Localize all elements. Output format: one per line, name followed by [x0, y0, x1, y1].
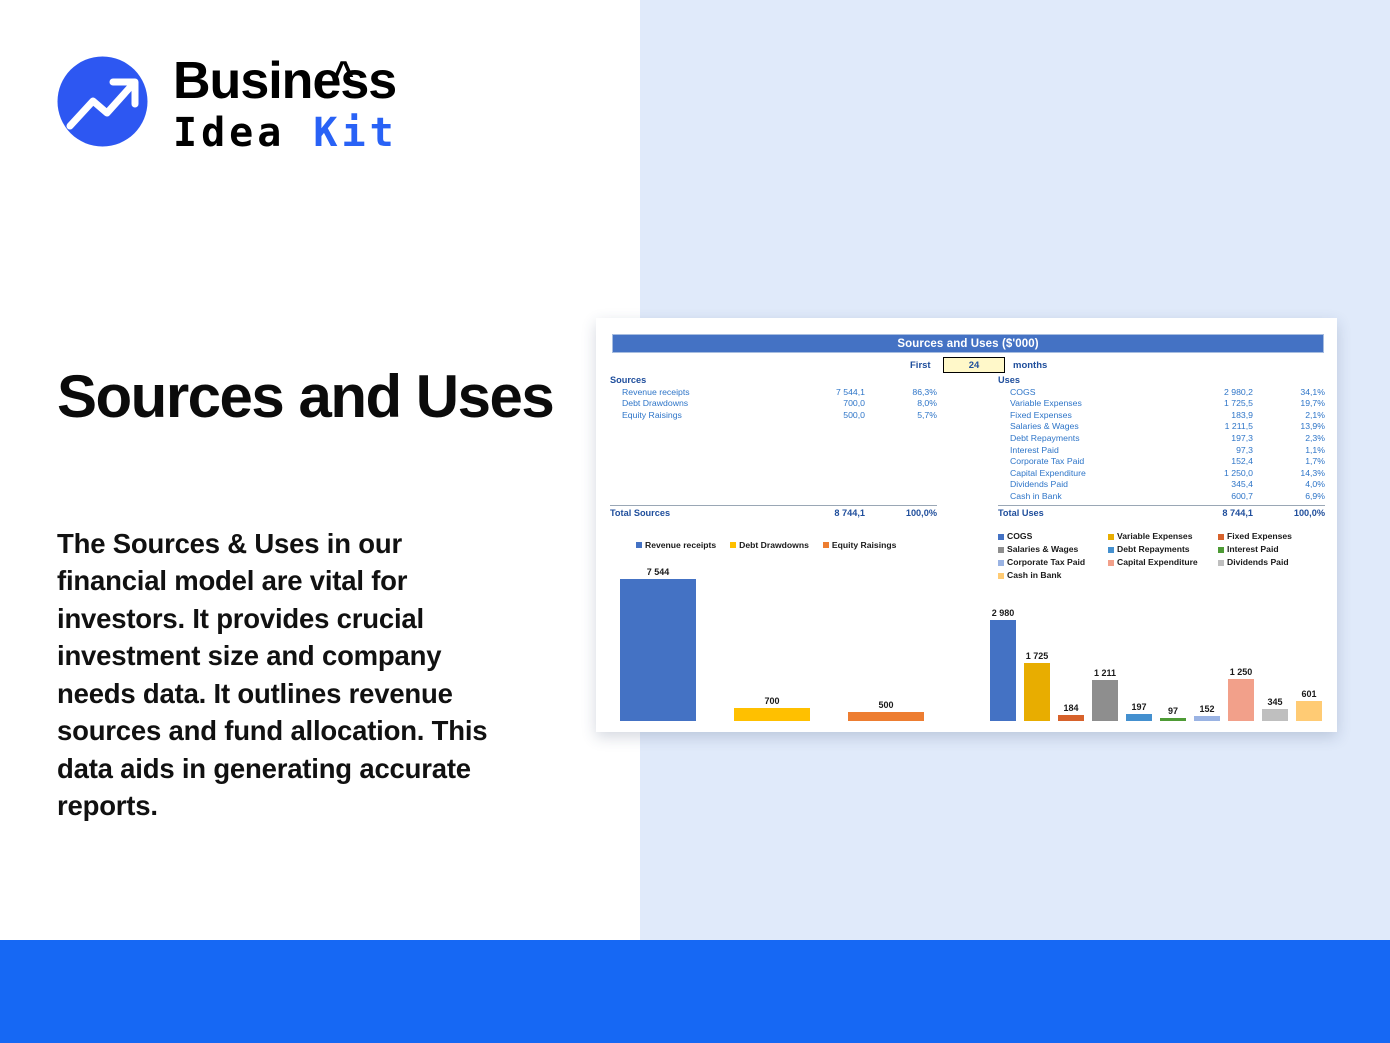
- bar-column: 1 250: [1228, 595, 1254, 721]
- row-label: Variable Expenses: [998, 398, 1173, 410]
- legend-row: Salaries & WagesDebt RepaymentsInterest …: [998, 543, 1328, 556]
- total-value: 8 744,1: [785, 508, 865, 520]
- row-pct: 86,3%: [865, 387, 937, 399]
- uses-bar-chart: 2 9801 7251841 211197971521 250345601: [990, 595, 1330, 721]
- row-pct: 5,7%: [865, 410, 937, 422]
- bar-value-label: 7 544: [647, 567, 670, 577]
- bar-column: 152: [1194, 595, 1220, 721]
- uses-chart-legend: COGSVariable ExpensesFixed ExpensesSalar…: [998, 530, 1328, 582]
- legend-item[interactable]: Interest Paid: [1218, 543, 1326, 556]
- legend-label: Debt Drawdowns: [739, 540, 809, 550]
- bar-column: 500: [848, 556, 924, 721]
- bar-column: 7 544: [620, 556, 696, 721]
- table-row: Debt Drawdowns 700,0 8,0%: [610, 398, 950, 410]
- row-label: Revenue receipts: [610, 387, 785, 399]
- row-pct: 2,3%: [1253, 433, 1325, 445]
- growth-arrow-circle-icon: [55, 54, 150, 149]
- bar-value-label: 345: [1267, 697, 1282, 707]
- row-value: 500,0: [785, 410, 865, 422]
- row-label: Capital Expenditure: [998, 468, 1173, 480]
- total-label: Total Uses: [998, 508, 1173, 520]
- brand-business-text: Business: [173, 52, 396, 110]
- bar: [1194, 716, 1220, 721]
- row-label: Corporate Tax Paid: [998, 456, 1173, 468]
- legend-label: Salaries & Wages: [1007, 543, 1078, 556]
- legend-item[interactable]: Dividends Paid: [1218, 556, 1326, 569]
- uses-header: Uses: [998, 375, 1173, 387]
- total-value: 8 744,1: [1173, 508, 1253, 520]
- uses-total-rule: [998, 505, 1325, 506]
- bar: [1058, 715, 1084, 721]
- row-pct: 1,1%: [1253, 445, 1325, 457]
- row-pct: 6,9%: [1253, 491, 1325, 503]
- legend-row: Corporate Tax PaidCapital ExpenditureDiv…: [998, 556, 1328, 569]
- brand-wordmark: Business ^ Idea Kit: [173, 52, 398, 156]
- table-row: Interest Paid97,31,1%: [998, 445, 1338, 457]
- legend-item[interactable]: Corporate Tax Paid: [998, 556, 1106, 569]
- row-label: Dividends Paid: [998, 479, 1173, 491]
- legend-item[interactable]: COGS: [998, 530, 1106, 543]
- table-row: COGS2 980,234,1%: [998, 387, 1338, 399]
- legend-item[interactable]: Variable Expenses: [1108, 530, 1216, 543]
- row-value: 1 250,0: [1173, 468, 1253, 480]
- sources-table: Sources Revenue receipts 7 544,1 86,3% D…: [610, 375, 950, 520]
- bar-value-label: 1 250: [1230, 667, 1253, 677]
- row-label: Debt Drawdowns: [610, 398, 785, 410]
- bar-column: 184: [1058, 595, 1084, 721]
- legend-item[interactable]: Salaries & Wages: [998, 543, 1106, 556]
- uses-table: Uses COGS2 980,234,1%Variable Expenses1 …: [998, 375, 1338, 519]
- row-label: COGS: [998, 387, 1173, 399]
- sources-total-rule: [610, 505, 937, 506]
- bar-value-label: 500: [878, 700, 893, 710]
- row-value: 1 725,5: [1173, 398, 1253, 410]
- legend-swatch: [1108, 534, 1114, 540]
- row-label: Debt Repayments: [998, 433, 1173, 445]
- bar: [620, 579, 696, 721]
- legend-swatch: [998, 560, 1004, 566]
- legend-label: Corporate Tax Paid: [1007, 556, 1085, 569]
- sources-bar-chart: 7 544700500: [620, 556, 930, 721]
- row-value: 183,9: [1173, 410, 1253, 422]
- legend-label: Interest Paid: [1227, 543, 1279, 556]
- legend-label: Revenue receipts: [645, 540, 716, 550]
- legend-row: Cash in Bank: [998, 569, 1328, 582]
- row-value: 600,7: [1173, 491, 1253, 503]
- row-pct: 13,9%: [1253, 421, 1325, 433]
- bar-value-label: 197: [1131, 702, 1146, 712]
- table-row: Corporate Tax Paid152,41,7%: [998, 456, 1338, 468]
- bar: [990, 620, 1016, 721]
- legend-swatch: [1108, 560, 1114, 566]
- bar-column: 1 211: [1092, 595, 1118, 721]
- legend-swatch: [1218, 547, 1224, 553]
- legend-label: Fixed Expenses: [1227, 530, 1292, 543]
- bar: [1296, 701, 1322, 721]
- bar-column: 700: [734, 556, 810, 721]
- bar-column: 2 980: [990, 595, 1016, 721]
- legend-swatch: [998, 534, 1004, 540]
- row-value: 2 980,2: [1173, 387, 1253, 399]
- row-value: 1 211,5: [1173, 421, 1253, 433]
- page-title: Sources and Uses: [57, 362, 617, 432]
- row-value: 700,0: [785, 398, 865, 410]
- brand-line-business: Business ^: [173, 52, 398, 110]
- row-value: 152,4: [1173, 456, 1253, 468]
- uses-total-row: Total Uses 8 744,1 100,0%: [998, 508, 1338, 520]
- table-row: Salaries & Wages1 211,513,9%: [998, 421, 1338, 433]
- first-months-row: First 24 months: [612, 357, 1322, 373]
- sources-header: Sources: [610, 375, 785, 387]
- table-row: Variable Expenses1 725,519,7%: [998, 398, 1338, 410]
- bar-value-label: 1 725: [1026, 651, 1049, 661]
- table-row: Revenue receipts 7 544,1 86,3%: [610, 387, 950, 399]
- legend-label: COGS: [1007, 530, 1032, 543]
- total-pct: 100,0%: [865, 508, 937, 520]
- row-label: Interest Paid: [998, 445, 1173, 457]
- bar-value-label: 1 211: [1094, 668, 1116, 678]
- bar-column: 97: [1160, 595, 1186, 721]
- brand-kit-text: Kit: [313, 110, 397, 156]
- bar-column: 601: [1296, 595, 1322, 721]
- bar-column: 197: [1126, 595, 1152, 721]
- row-value: 7 544,1: [785, 387, 865, 399]
- row-pct: 34,1%: [1253, 387, 1325, 399]
- legend-label: Capital Expenditure: [1117, 556, 1198, 569]
- legend-row: COGSVariable ExpensesFixed Expenses: [998, 530, 1328, 543]
- legend-swatch: [823, 542, 829, 548]
- legend-label: Equity Raisings: [832, 540, 896, 550]
- first-label: First: [910, 360, 931, 371]
- legend-swatch: [636, 542, 642, 548]
- row-value: 345,4: [1173, 479, 1253, 491]
- bar-column: 1 725: [1024, 595, 1050, 721]
- sources-total-row: Total Sources 8 744,1 100,0%: [610, 508, 950, 520]
- brand-logo: Business ^ Idea Kit: [55, 52, 435, 157]
- legend-swatch: [1108, 547, 1114, 553]
- table-row: Capital Expenditure1 250,014,3%: [998, 468, 1338, 480]
- months-label: months: [1013, 360, 1047, 371]
- bar: [734, 708, 810, 721]
- bar-value-label: 700: [764, 696, 779, 706]
- total-pct: 100,0%: [1253, 508, 1325, 520]
- uses-bars: 2 9801 7251841 211197971521 250345601: [990, 595, 1330, 721]
- bar: [1126, 714, 1152, 721]
- table-row: Fixed Expenses183,92,1%: [998, 410, 1338, 422]
- bar: [1092, 680, 1118, 721]
- row-value: 97,3: [1173, 445, 1253, 457]
- row-pct: 1,7%: [1253, 456, 1325, 468]
- legend-swatch: [1218, 560, 1224, 566]
- brand-circumflex-accent: ^: [333, 45, 353, 103]
- table-row: Equity Raisings 500,0 5,7%: [610, 410, 950, 422]
- legend-item[interactable]: Revenue receipts: [636, 540, 716, 550]
- row-label: Salaries & Wages: [998, 421, 1173, 433]
- months-input[interactable]: 24: [943, 357, 1005, 373]
- row-pct: 8,0%: [865, 398, 937, 410]
- legend-swatch: [998, 547, 1004, 553]
- total-label: Total Sources: [610, 508, 785, 520]
- legend-swatch: [730, 542, 736, 548]
- brand-idea-text: Idea: [173, 110, 285, 156]
- bar: [1228, 679, 1254, 721]
- bar-value-label: 184: [1063, 703, 1078, 713]
- bar-value-label: 2 980: [992, 608, 1015, 618]
- legend-item[interactable]: Cash in Bank: [998, 569, 1106, 582]
- legend-label: Dividends Paid: [1227, 556, 1289, 569]
- bar-value-label: 152: [1199, 704, 1214, 714]
- legend-item[interactable]: Capital Expenditure: [1108, 556, 1216, 569]
- legend-swatch: [998, 573, 1004, 579]
- row-value: 197,3: [1173, 433, 1253, 445]
- legend-item[interactable]: Debt Repayments: [1108, 543, 1216, 556]
- bar-column: 345: [1262, 595, 1288, 721]
- row-label: Equity Raisings: [610, 410, 785, 422]
- legend-label: Debt Repayments: [1117, 543, 1190, 556]
- bar: [1160, 718, 1186, 721]
- bar: [848, 712, 924, 721]
- row-pct: 14,3%: [1253, 468, 1325, 480]
- bar-value-label: 97: [1168, 706, 1178, 716]
- row-pct: 19,7%: [1253, 398, 1325, 410]
- bottom-blue-bar: [0, 940, 1390, 1043]
- spacer: [610, 421, 950, 503]
- legend-label: Cash in Bank: [1007, 569, 1061, 582]
- legend-item[interactable]: Debt Drawdowns: [730, 540, 809, 550]
- table-row: Dividends Paid345,44,0%: [998, 479, 1338, 491]
- sources-bars: 7 544700500: [620, 556, 930, 721]
- legend-item[interactable]: Equity Raisings: [823, 540, 896, 550]
- bar-value-label: 601: [1301, 689, 1316, 699]
- bar: [1024, 663, 1050, 721]
- legend-item[interactable]: Fixed Expenses: [1218, 530, 1326, 543]
- table-row: Cash in Bank600,76,9%: [998, 491, 1338, 503]
- sources-chart-legend: Revenue receiptsDebt DrawdownsEquity Rai…: [636, 540, 936, 550]
- sheet-title-bar: Sources and Uses ($'000): [612, 334, 1324, 353]
- row-pct: 4,0%: [1253, 479, 1325, 491]
- brand-line-idea-kit: Idea Kit: [173, 110, 398, 156]
- row-label: Fixed Expenses: [998, 410, 1173, 422]
- row-label: Cash in Bank: [998, 491, 1173, 503]
- legend-label: Variable Expenses: [1117, 530, 1192, 543]
- table-row: Debt Repayments197,32,3%: [998, 433, 1338, 445]
- row-pct: 2,1%: [1253, 410, 1325, 422]
- page-description: The Sources & Uses in our financial mode…: [57, 525, 497, 825]
- legend-swatch: [1218, 534, 1224, 540]
- bar: [1262, 709, 1288, 721]
